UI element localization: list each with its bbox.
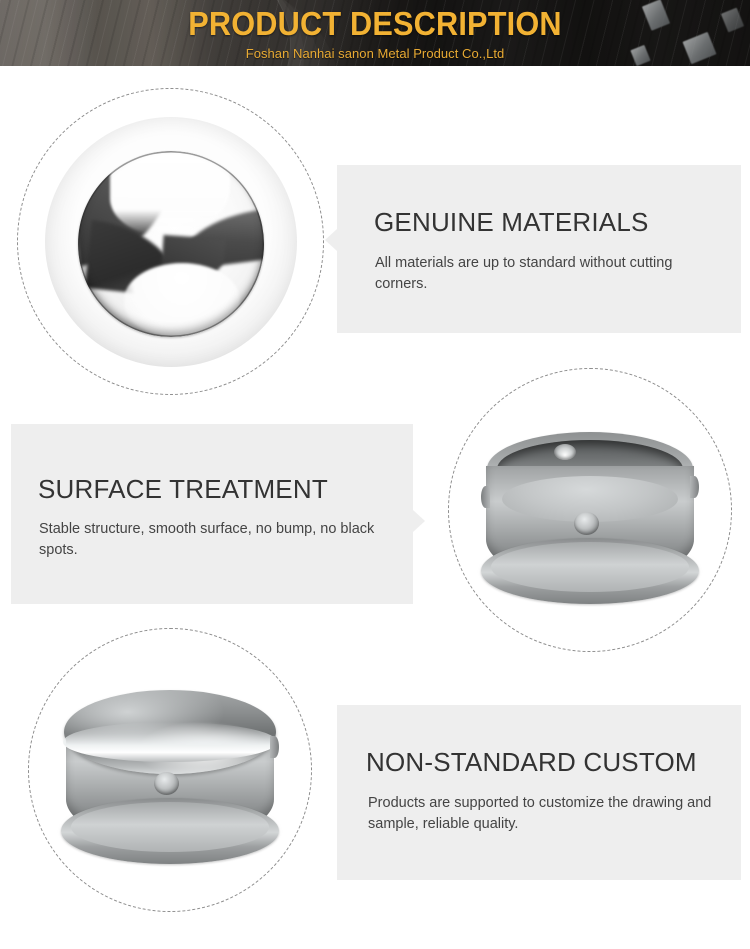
feature-panel-surface-treatment: SURFACE TREATMENT Stable structure, smoo… — [11, 424, 413, 604]
photo-clip — [449, 369, 731, 651]
photo-clip — [18, 89, 323, 394]
feature-description: All materials are up to standard without… — [375, 253, 715, 295]
product-photo-surface-treatment — [448, 368, 732, 652]
feature-title: SURFACE TREATMENT — [38, 474, 328, 504]
product-photo-non-standard-custom — [28, 628, 312, 912]
cap-tab-right — [690, 476, 699, 498]
feature-panel-non-standard-custom: NON-STANDARD CUSTOM Products are support… — [337, 705, 741, 880]
product-photo-genuine-materials — [17, 88, 324, 395]
cap-tab-right — [270, 736, 279, 758]
cap-face — [78, 151, 264, 337]
feature-panel-genuine-materials: GENUINE MATERIALS All materials are up t… — [337, 165, 741, 333]
lid-edge-highlight — [63, 722, 277, 762]
cap-dimple-outer — [574, 512, 599, 535]
cap-flange-inner — [491, 542, 689, 592]
feature-title: GENUINE MATERIALS — [374, 207, 649, 237]
feature-description: Products are supported to customize the … — [368, 793, 718, 835]
cap-rim — [78, 151, 264, 337]
panel-pointer-right-icon — [413, 510, 425, 532]
header-banner: PRODUCT DESCRIPTION Foshan Nanhai sanon … — [0, 0, 750, 66]
feature-title: NON-STANDARD CUSTOM — [366, 747, 697, 777]
cap-flange-inner — [71, 802, 269, 852]
company-name: Foshan Nanhai sanon Metal Product Co.,Lt… — [0, 46, 750, 62]
photo-clip — [29, 629, 311, 911]
cap-dimple-inner — [554, 444, 576, 460]
cap-tab-left — [481, 486, 490, 508]
feature-description: Stable structure, smooth surface, no bum… — [39, 519, 389, 561]
cap-dimple-outer — [154, 772, 179, 795]
panel-pointer-left-icon — [325, 229, 337, 251]
page-title: PRODUCT DESCRIPTION — [26, 5, 724, 43]
